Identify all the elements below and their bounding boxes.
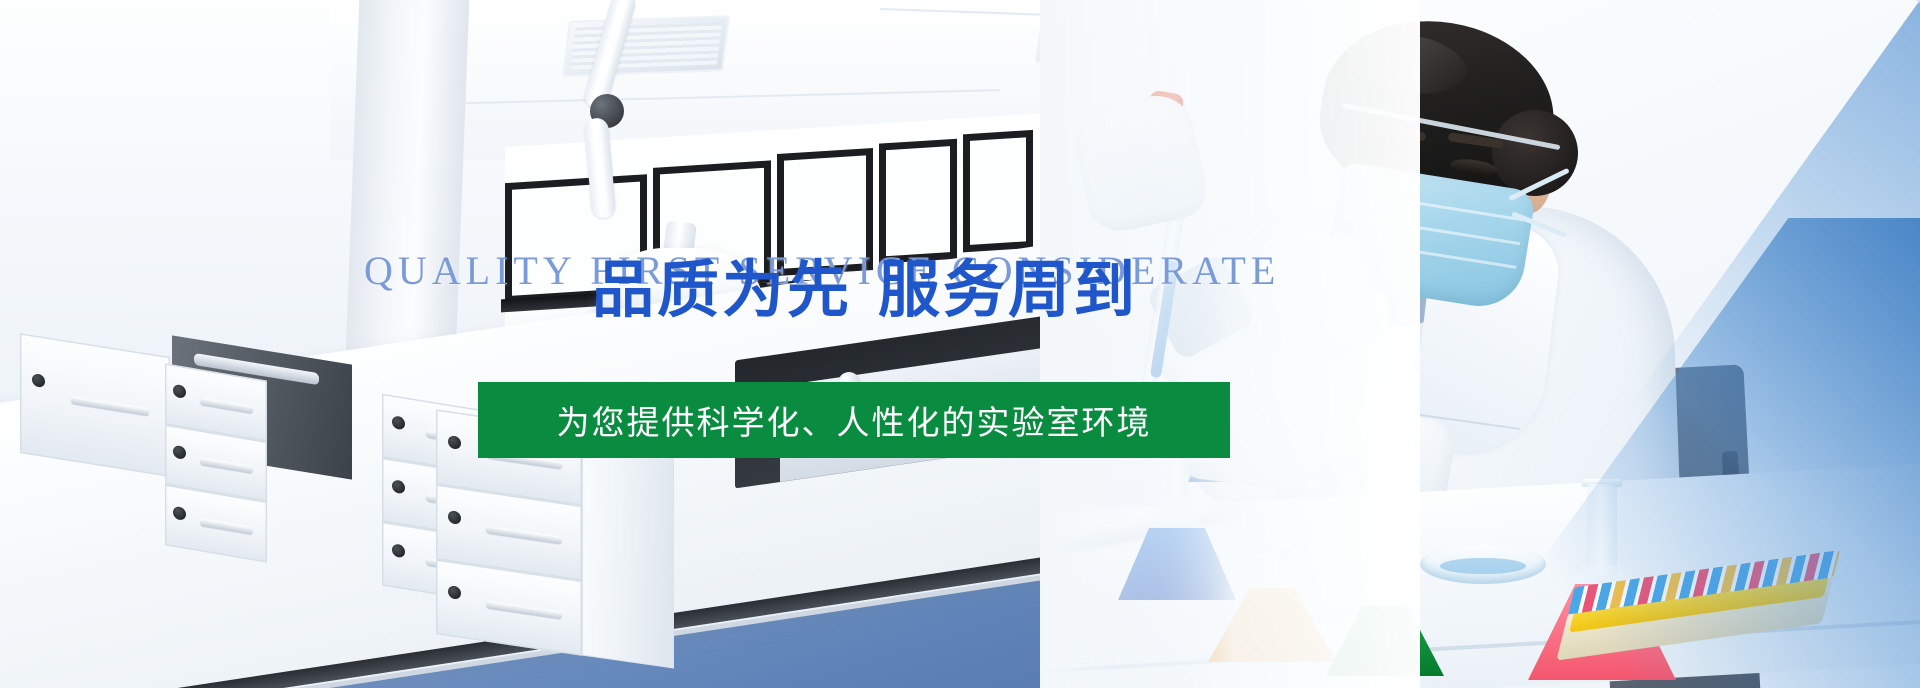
headline-part-2: 服务周到	[878, 253, 1138, 326]
headline-part-1: 品质为先	[592, 253, 852, 326]
banner-subtitle-bar: 为您提供科学化、人性化的实验室环境	[478, 382, 1230, 458]
hero-banner: QUALITY FIRST SERVICE CONSIDERATE 品质为先服务…	[0, 0, 1920, 688]
banner-text-overlay: QUALITY FIRST SERVICE CONSIDERATE 品质为先服务…	[0, 0, 1920, 688]
banner-headline: 品质为先服务周到	[592, 246, 1138, 334]
banner-subtitle-text: 为您提供科学化、人性化的实验室环境	[557, 396, 1152, 444]
